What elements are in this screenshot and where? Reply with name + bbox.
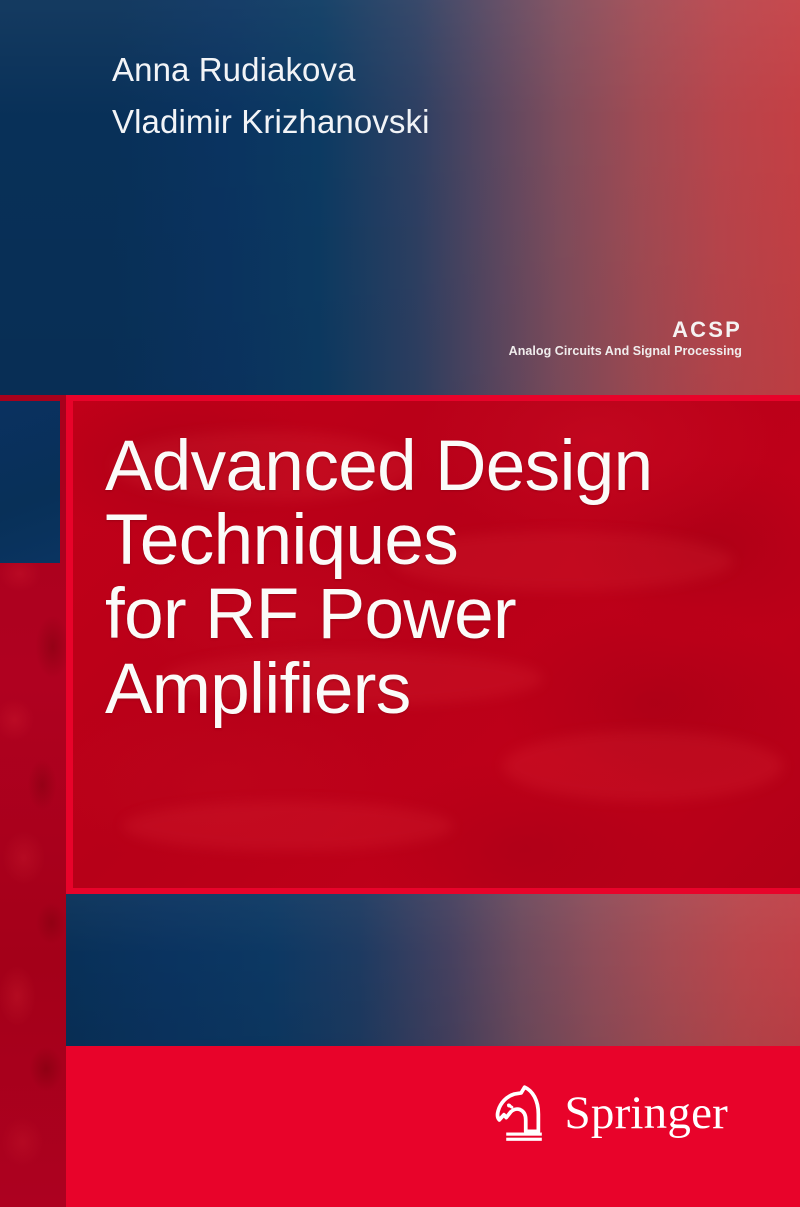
panel-texture-wisp	[503, 731, 783, 801]
author-name-1: Anna Rudiakova	[112, 44, 732, 96]
book-title: Advanced Design Techniques for RF Power …	[105, 430, 765, 727]
lower-gradient-band	[66, 894, 800, 1046]
book-cover: Anna Rudiakova Vladimir Krizhanovski ACS…	[0, 0, 800, 1207]
series-badge: ACSP Analog Circuits And Signal Processi…	[509, 318, 742, 359]
springer-knight-icon	[491, 1082, 549, 1144]
series-acronym: ACSP	[509, 318, 742, 341]
title-line-3: for RF Power	[105, 578, 765, 652]
series-name: Analog Circuits And Signal Processing	[509, 345, 742, 359]
springer-wordmark: Springer	[565, 1090, 728, 1137]
panel-texture-wisp	[123, 801, 453, 851]
title-line-2: Techniques	[105, 504, 765, 578]
springer-logo: Springer	[491, 1082, 728, 1144]
title-line-4: Amplifiers	[105, 653, 765, 727]
author-list: Anna Rudiakova Vladimir Krizhanovski	[112, 44, 732, 148]
author-name-2: Vladimir Krizhanovski	[112, 96, 732, 148]
title-line-1: Advanced Design	[105, 430, 765, 504]
left-navy-block	[0, 401, 60, 563]
lower-band-sheen	[66, 894, 800, 1046]
